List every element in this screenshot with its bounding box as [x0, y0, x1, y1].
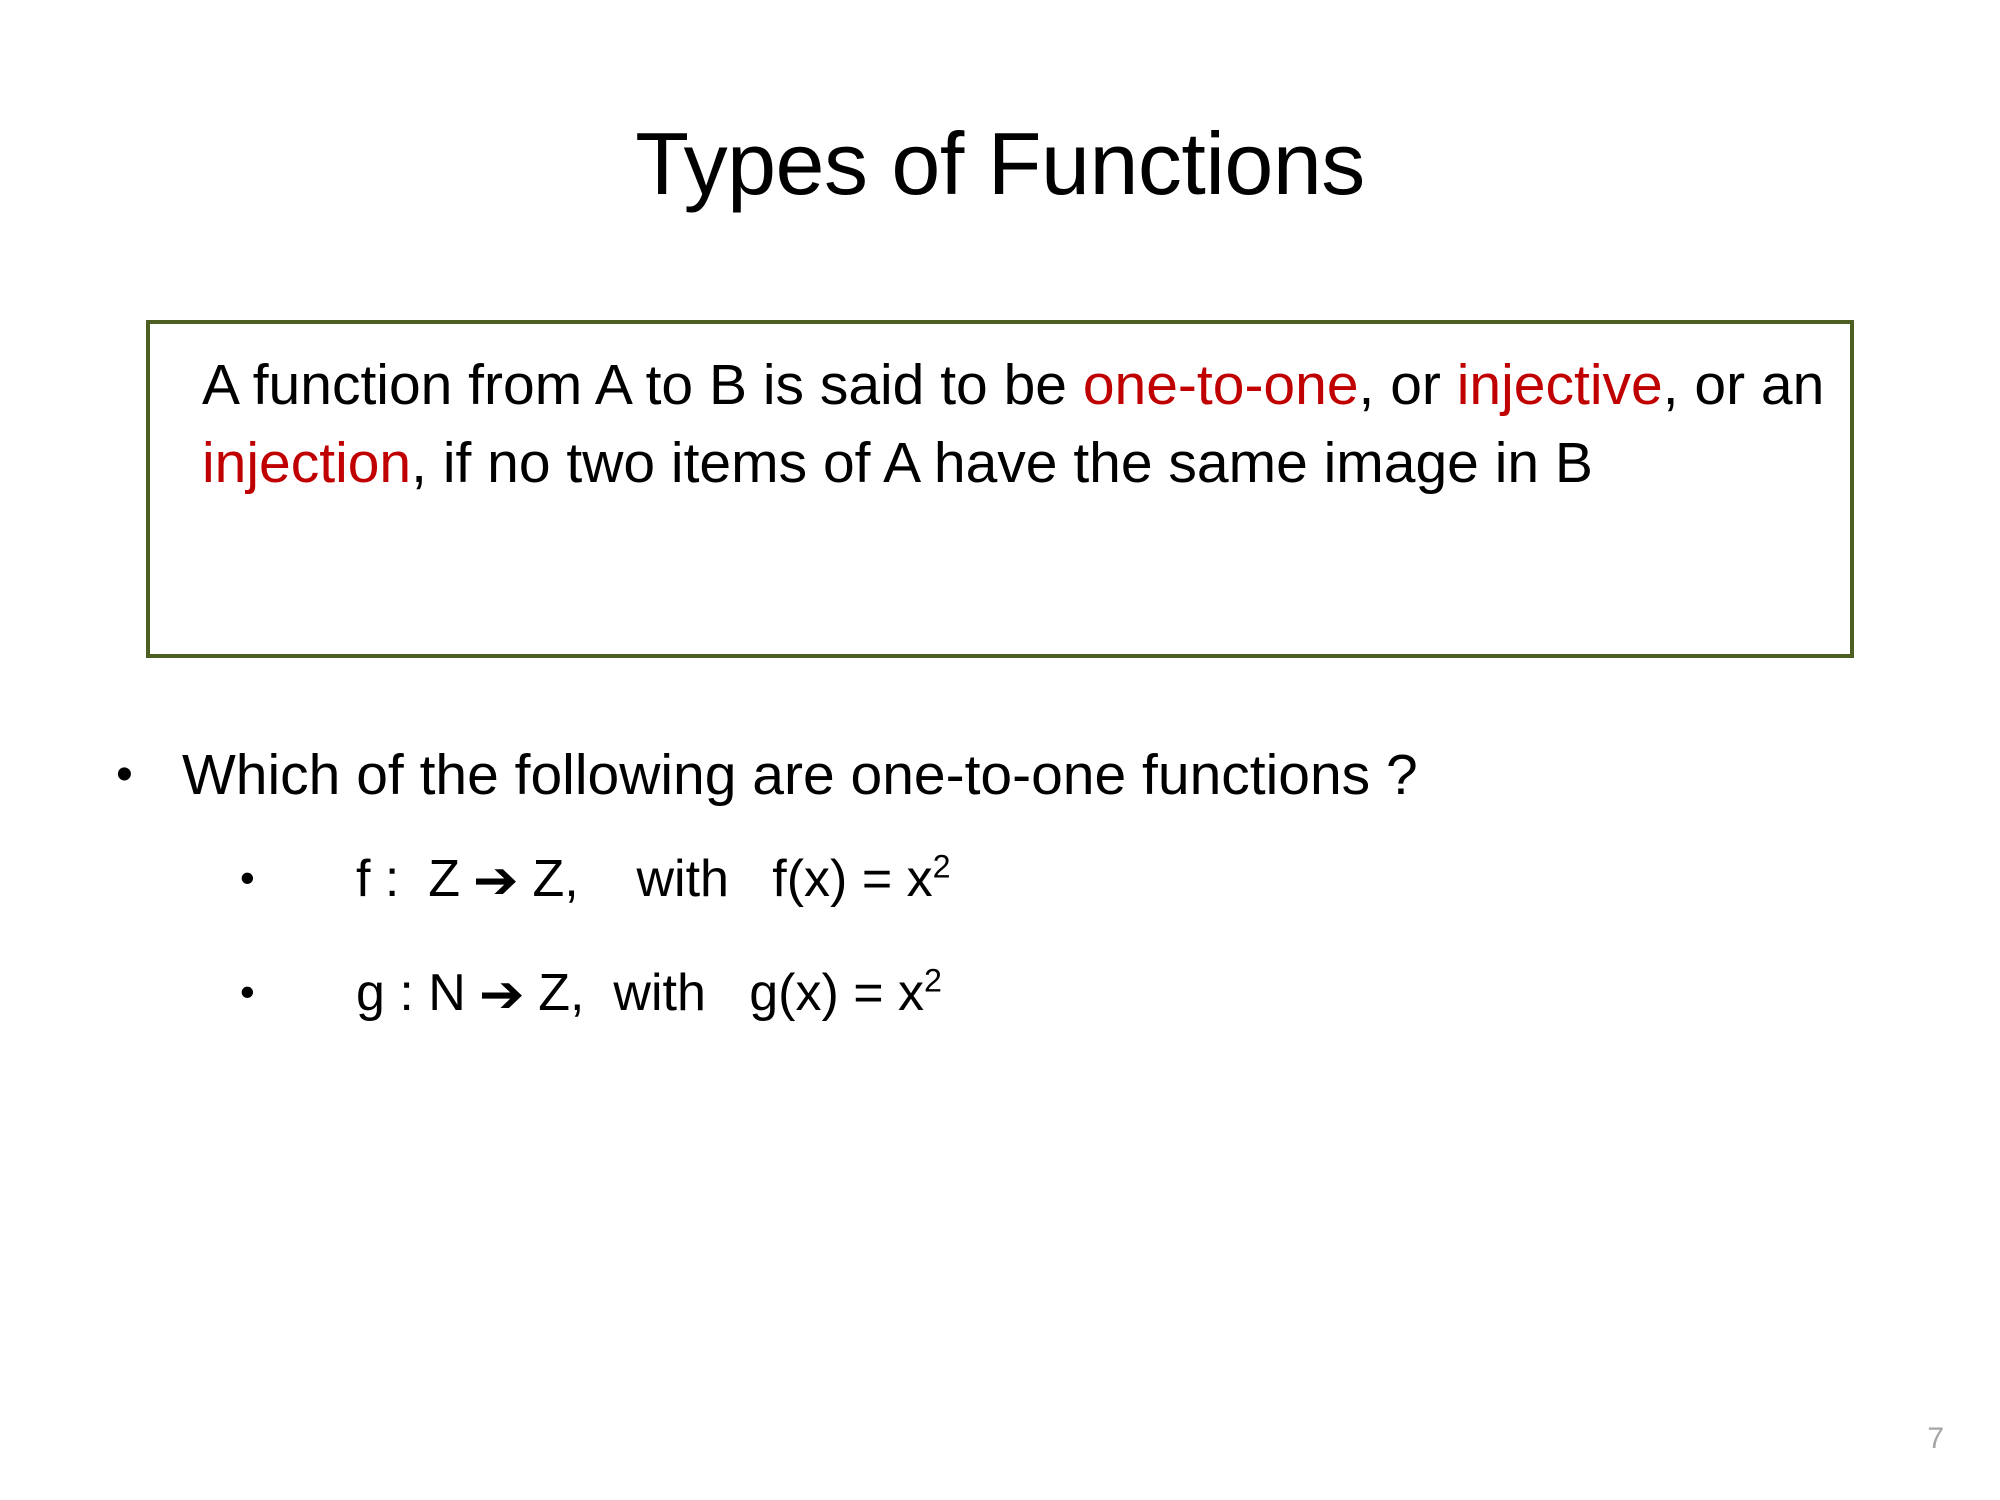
- sub-bullet-g: • g : N ➔ Z, with g(x) = x2: [240, 962, 1940, 1025]
- function-g-middle: Z, with g(x) = x: [524, 964, 924, 1022]
- function-f-prefix: f : Z: [356, 850, 474, 908]
- term-injective: injective: [1457, 353, 1663, 417]
- definition-line2-prefix: or: [1390, 353, 1457, 417]
- definition-text: A function from A to B is said to be one…: [202, 346, 1834, 502]
- definition-line2-suffix: , if no two items of A: [411, 431, 918, 495]
- right-arrow-icon: ➔: [473, 850, 519, 913]
- definition-callout-box: A function from A to B is said to be one…: [146, 320, 1854, 658]
- bullet-marker-icon: •: [116, 740, 182, 810]
- function-f-middle: Z, with f(x) = x: [518, 850, 933, 908]
- page-number: 7: [1927, 1422, 1944, 1456]
- function-g-expression: g : N ➔ Z, with g(x) = x2: [356, 962, 942, 1025]
- term-injection: injection: [202, 431, 411, 495]
- page-title: Types of Functions: [0, 118, 2000, 210]
- bullet-marker-icon: •: [240, 962, 356, 1022]
- definition-line2-middle: , or an: [1663, 353, 1825, 417]
- function-f-expression: f : Z ➔ Z, with f(x) = x2: [356, 848, 951, 911]
- sub-bullet-f: • f : Z ➔ Z, with f(x) = x2: [240, 848, 1940, 911]
- definition-line1-prefix: A function from A to B is said to be: [202, 353, 1083, 417]
- bullet-marker-icon: •: [240, 848, 356, 908]
- function-g-prefix: g : N: [356, 964, 480, 1022]
- function-f-exponent: 2: [933, 849, 951, 885]
- right-arrow-icon: ➔: [479, 964, 525, 1027]
- function-g-exponent: 2: [924, 963, 942, 999]
- definition-line1-suffix: ,: [1359, 353, 1375, 417]
- bullet-question-label: Which of the following are one-to-one fu…: [182, 740, 1418, 811]
- definition-line3: have the same image in B: [934, 431, 1593, 495]
- slide-canvas: Types of Functions A function from A to …: [0, 0, 2000, 1500]
- bullet-question: • Which of the following are one-to-one …: [116, 740, 1916, 811]
- term-one-to-one: one-to-one: [1083, 353, 1359, 417]
